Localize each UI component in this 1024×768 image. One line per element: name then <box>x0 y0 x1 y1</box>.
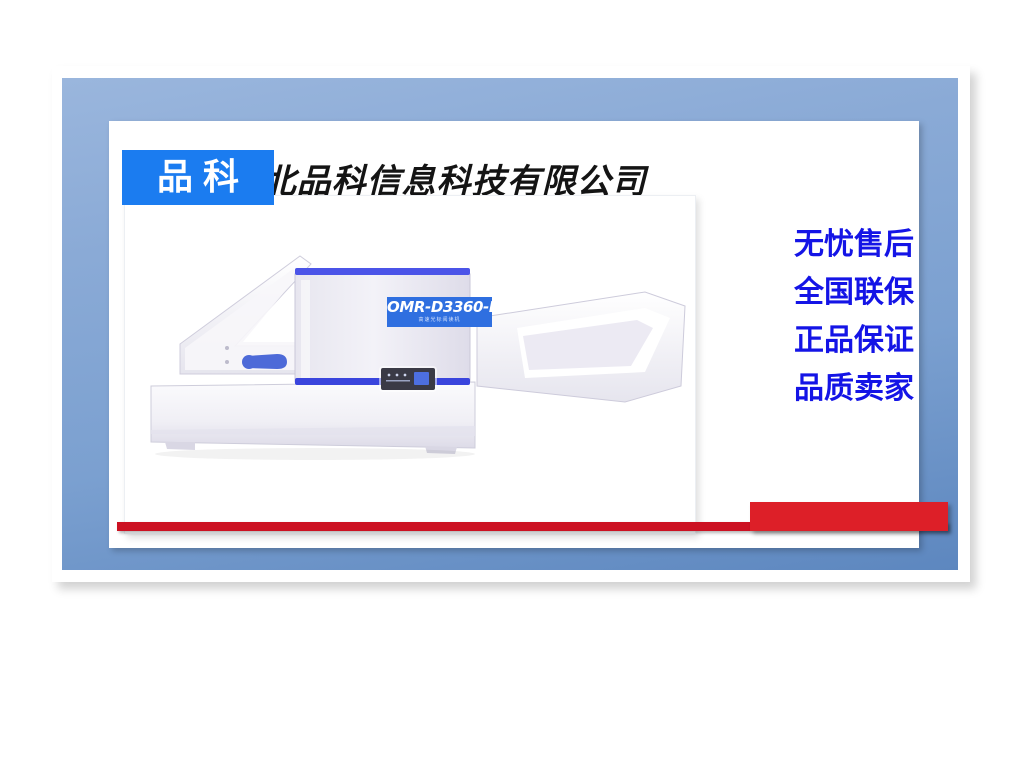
device-model-label: OMR-D3360-D 高速光标阅读机 <box>387 297 492 327</box>
slogan-line-3: 正品保证 <box>775 317 914 365</box>
product-photo-panel: OMR-D3360-D 高速光标阅读机 <box>124 195 696 534</box>
omr-scanner-illustration <box>125 196 695 533</box>
product-banner-card: 河北品科信息科技有限公司 <box>52 66 970 582</box>
screenshot-root: 河北品科信息科技有限公司 <box>0 0 1024 768</box>
slogan-line-4: 品质卖家 <box>793 365 914 413</box>
brand-logo-badge: 品科 <box>122 150 274 205</box>
device-indicator-lights <box>386 373 410 384</box>
device-power-button <box>414 372 429 385</box>
device-control-panel <box>381 368 435 390</box>
red-accent-block <box>750 502 948 531</box>
slogan-line-2: 全国联保 <box>757 269 914 317</box>
white-content-sheet: 河北品科信息科技有限公司 <box>109 121 919 548</box>
slogan-line-1: 无忧售后 <box>739 221 914 269</box>
blue-gradient-frame: 河北品科信息科技有限公司 <box>62 78 958 570</box>
device-model-subtext: 高速光标阅读机 <box>387 316 492 323</box>
device-model-text: OMR-D3360-D <box>387 298 492 316</box>
slogan-list: 无忧售后 全国联保 正品保证 品质卖家 <box>739 221 914 413</box>
